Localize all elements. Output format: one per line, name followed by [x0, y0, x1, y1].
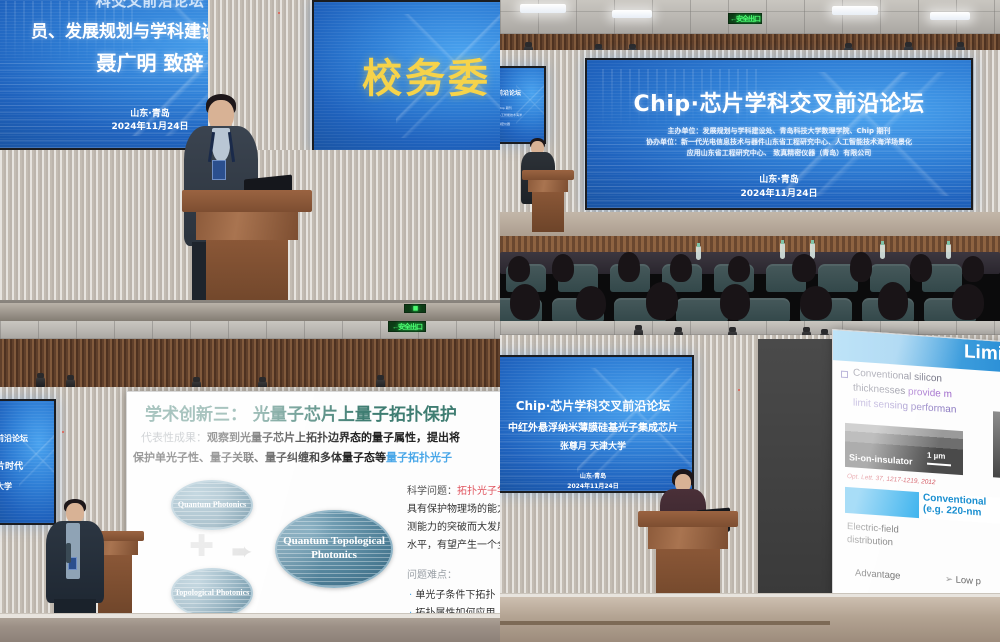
audience-head [962, 256, 984, 282]
arrow-bullet-icon: ➢ [945, 574, 956, 586]
podium-base [532, 192, 564, 232]
ceiling-light [832, 6, 878, 15]
arrow-right-icon: ➨ [231, 538, 253, 564]
led-screen-side: 前沿论坛 Chip 期刊 人工智能技术海洋 精密仪器 [500, 66, 546, 144]
table-row-label-efield: Electric-field distribution [847, 521, 919, 552]
sem-micrograph-secondary [993, 411, 1000, 479]
water-bottle [880, 244, 885, 259]
audience-head [670, 254, 692, 282]
podium-top [638, 511, 738, 527]
podium-top-left [182, 190, 312, 315]
audience-row-front [500, 288, 1000, 321]
diagram-node-topological-photonics: Topological Photonics [171, 568, 253, 617]
water-bottle [946, 244, 951, 259]
audience-head [792, 254, 816, 282]
presentation-slide: Limi Conventional silicon thicknesses pr… [832, 329, 1000, 609]
audience-head [508, 256, 530, 282]
presentation-slide: 学术创新三： 光量子芯片上量子拓扑保护 代表性成果：观察到光量子芯片上拓扑边界态… [126, 391, 500, 617]
diagram-result-quantum-topological-photonics: Quantum Topological Photonics [275, 510, 393, 588]
plus-icon: ✚ [189, 532, 214, 562]
slide-body-line1: 代表性成果：观察到光量子芯片上拓扑边界态的量子属性，提出将 [141, 430, 460, 447]
ceiling [500, 321, 1000, 335]
slide-heading: Limi [964, 341, 1000, 366]
indicator-led [738, 389, 740, 391]
stage-edge [500, 621, 830, 625]
line2-plain: thicknesses [853, 382, 908, 397]
baseboard [0, 613, 500, 618]
bullet-icon: · [409, 590, 412, 601]
scale-bar-label: 1 µm [927, 451, 945, 461]
screen-speaker-name: 张尊月 天津大学 [500, 439, 692, 452]
slide-bullet-line3: limit sensing performan [853, 397, 956, 415]
forum-date: 2024年11月24日 [587, 188, 971, 202]
table-header-cell: Conventional (e.g. 220-nm [923, 492, 1000, 524]
slide-result-label: 代表性成果： [141, 431, 207, 444]
sem-micrograph [845, 423, 963, 475]
acoustic-panel [758, 339, 834, 597]
side-screen-sub2: 人工智能技术海洋 [500, 113, 522, 117]
speaker-face [66, 503, 84, 523]
exit-sign: ←安全出口 [388, 321, 426, 332]
forum-title: Chip·芯片学科交叉前沿论坛 [587, 86, 971, 118]
photo-collage: 科交叉前沿论坛 员、发展规划与学科建设处处长 聂广明 致辞 山东·青岛 2024… [0, 0, 1000, 642]
audience-head [850, 252, 872, 282]
citation: Opt. Lett. 37, 1217-1219, 2012 [847, 473, 936, 486]
diagram-node-quantum-photonics: Quantum Photonics [171, 480, 253, 530]
slide-right-line3: 测能力的突破而大发展 [407, 520, 500, 535]
led-screen-main: Chip·芯片学科交叉前沿论坛 主办单位：发展规划与学科建设处、青岛科技大学数理… [585, 58, 973, 210]
slide-heading: 学术创新三： 光量子芯片上量子拓扑保护 [145, 400, 457, 425]
podium-top-right [522, 170, 574, 232]
slide-right-line4: 水平，有望产生一个全 [407, 538, 500, 553]
screen-geometric-decoration [516, 74, 546, 136]
advantage-text: Low p [956, 575, 981, 588]
podium-body [528, 180, 568, 192]
audience-head [910, 254, 932, 282]
wall-wood-band [0, 339, 500, 387]
slide-right-line2: 具有保护物理场的能力 [407, 502, 500, 517]
floor [0, 615, 500, 642]
difficulty-bullet-1-text: 单光子条件下拓扑 [415, 590, 495, 601]
side-screen-line2: 片时代 [0, 459, 23, 472]
slide-body-text2: 保护单光子性、量子关联、量子纠缠和多体量子态等 [133, 451, 386, 464]
podium-top [182, 190, 312, 212]
bullet-square-icon [841, 371, 848, 378]
screen-forum-title: Chip·芯片学科交叉前沿论坛 [500, 397, 692, 414]
difficulty-bullet-1: · 单光子条件下拓扑 [409, 588, 495, 603]
table-row-label-advantage: Advantage [855, 568, 900, 582]
table-row-value-advantage: ➢ Low p [945, 574, 981, 588]
ceiling-light [612, 10, 652, 18]
exit-sign-icon: ▮▮ [404, 304, 426, 313]
podium-top [522, 170, 574, 180]
screen-topic: 中红外悬浮纳米薄膜硅基光子集成芯片 [500, 419, 692, 434]
exit-sign: ←安全出口 [728, 13, 762, 24]
slide-bullet-line1: Conventional silicon [853, 367, 942, 384]
screen-geometric-decoration [19, 411, 56, 513]
panel-top-left: 科交叉前沿论坛 员、发展规划与学科建设处处长 聂广明 致辞 山东·青岛 2024… [0, 0, 500, 321]
audience-head [552, 254, 574, 282]
audience-head [576, 286, 606, 320]
table-header-cell-blank [845, 487, 919, 518]
slide-body-text1: 观察到光量子芯片上拓扑边界态的量子属性，提出将 [207, 431, 460, 444]
microphone-icon [66, 543, 71, 563]
audience-head [728, 256, 750, 282]
panel-bottom-left: ←安全出口 前沿论坛 片时代 大学 学术创新三： 光量子芯片上量子拓扑保护 代表… [0, 321, 500, 642]
slide-body-highlight: 量子拓扑光子 [386, 451, 452, 464]
line2-highlight: provide m [908, 386, 952, 400]
ceiling-light [930, 12, 970, 20]
cohost-organizations-line1: 协办单位：新一代光电信息技术与器件山东省工程研究中心、人工智能技术海洋场景化 [587, 137, 971, 147]
audience-head [952, 284, 984, 320]
audience-head [800, 286, 832, 320]
indicator-led [278, 12, 280, 14]
floor [500, 597, 1000, 642]
side-screen-sub: Chip 期刊 [500, 106, 512, 110]
science-question-label: 科学问题： [407, 486, 457, 497]
indicator-led [62, 431, 64, 433]
panel-top-right: ←安全出口 前沿论坛 Chip 期刊 人工智能技术海洋 精密仪器 Chip·芯片… [500, 0, 1000, 321]
difficulty-label: 问题难点： [407, 568, 457, 583]
ceiling-grid [500, 321, 1000, 335]
side-screen-line1: 前沿论坛 [0, 433, 28, 444]
side-screen-line3: 大学 [0, 481, 12, 492]
host-organizations: 主办单位：发展规划与学科建设处、青岛科技大学数理学院、Chip 期刊 [587, 126, 971, 136]
speaker-badge [212, 160, 226, 180]
wall-wood-band [500, 34, 1000, 50]
science-question-highlight: 拓扑光子学 [457, 486, 500, 497]
podium-body [196, 212, 298, 240]
side-screen-title: 前沿论坛 [500, 88, 521, 97]
audience-head [720, 284, 750, 320]
audience-head [646, 282, 678, 320]
water-bottle [780, 243, 785, 259]
wall-lower-right [310, 150, 500, 305]
audience-row-back [500, 258, 1000, 292]
audience-head [878, 282, 908, 320]
slide-right-line1: 科学问题：拓扑光子学 [407, 484, 500, 499]
podium-body [648, 527, 728, 549]
ceiling-light [520, 4, 566, 13]
panel-bottom-right: Chip·芯片学科交叉前沿论坛 中红外悬浮纳米薄膜硅基光子集成芯片 张尊月 天津… [500, 321, 1000, 642]
slide-body-line2: 保护单光子性、量子关联、量子纠缠和多体量子态等量子拓扑光子 [133, 450, 452, 467]
screen-right-text: 校务委 [362, 46, 491, 104]
audience-head [618, 252, 640, 282]
audience-head [510, 284, 540, 320]
led-screen-right: 校务委 [312, 0, 500, 152]
cohost-organizations-line2: 应用山东省工程研究中心、 致真精密仪器（青岛）有限公司 [587, 148, 971, 158]
side-screen-sub3: 精密仪器 [500, 122, 510, 126]
forum-place: 山东·青岛 [587, 174, 971, 188]
